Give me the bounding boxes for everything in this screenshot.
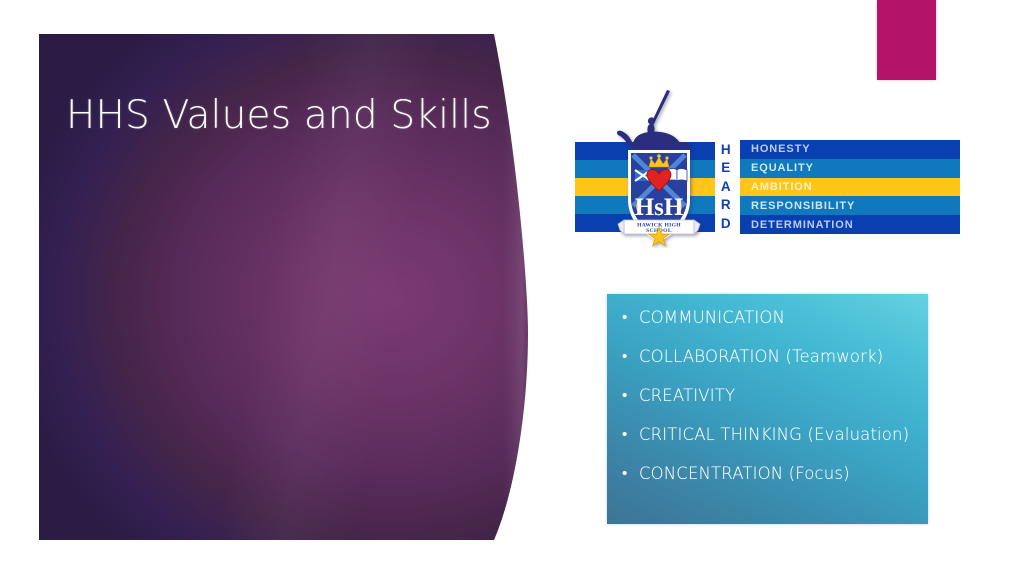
value-row-honesty: HONESTY xyxy=(740,140,960,159)
heard-values-list: HONESTY EQUALITY AMBITION RESPONSIBILITY… xyxy=(740,140,963,234)
list-item: CREATIVITY xyxy=(619,386,916,406)
list-item: COMMUNICATION xyxy=(619,308,916,328)
skills-box: COMMUNICATION COLLABORATION (Teamwork) C… xyxy=(607,294,928,524)
school-crest-icon: HsH HAWICK HIGH SCHOOL xyxy=(607,88,711,248)
value-row-ambition: AMBITION xyxy=(740,178,960,197)
heard-letter-d: D xyxy=(721,215,731,234)
list-item: CONCENTRATION (Focus) xyxy=(619,464,916,484)
panel-curved-edge-highlight xyxy=(503,34,529,540)
value-row-determination: DETERMINATION xyxy=(740,215,960,234)
hsh-monogram: HsH xyxy=(635,194,684,221)
skills-list: COMMUNICATION COLLABORATION (Teamwork) C… xyxy=(619,308,916,484)
heard-letter-r: R xyxy=(721,196,731,215)
heard-acrostic-column: H E A R D xyxy=(715,140,737,234)
list-item: CRITICAL THINKING (Evaluation) xyxy=(619,425,916,445)
list-item: COLLABORATION (Teamwork) xyxy=(619,347,916,367)
heard-letter-e: E xyxy=(721,159,731,178)
hawick-high-school-heard-logo: HsH HAWICK HIGH SCHOOL H E A R D xyxy=(575,88,963,248)
slide-canvas: HHS Values and Skills xyxy=(0,0,1024,576)
value-row-responsibility: RESPONSIBILITY xyxy=(740,196,960,215)
magenta-accent-rectangle xyxy=(877,0,936,80)
heard-letter-h: H xyxy=(721,141,731,160)
value-row-equality: EQUALITY xyxy=(740,159,960,178)
page-title: HHS Values and Skills xyxy=(66,94,496,139)
heard-letter-a: A xyxy=(721,178,731,197)
